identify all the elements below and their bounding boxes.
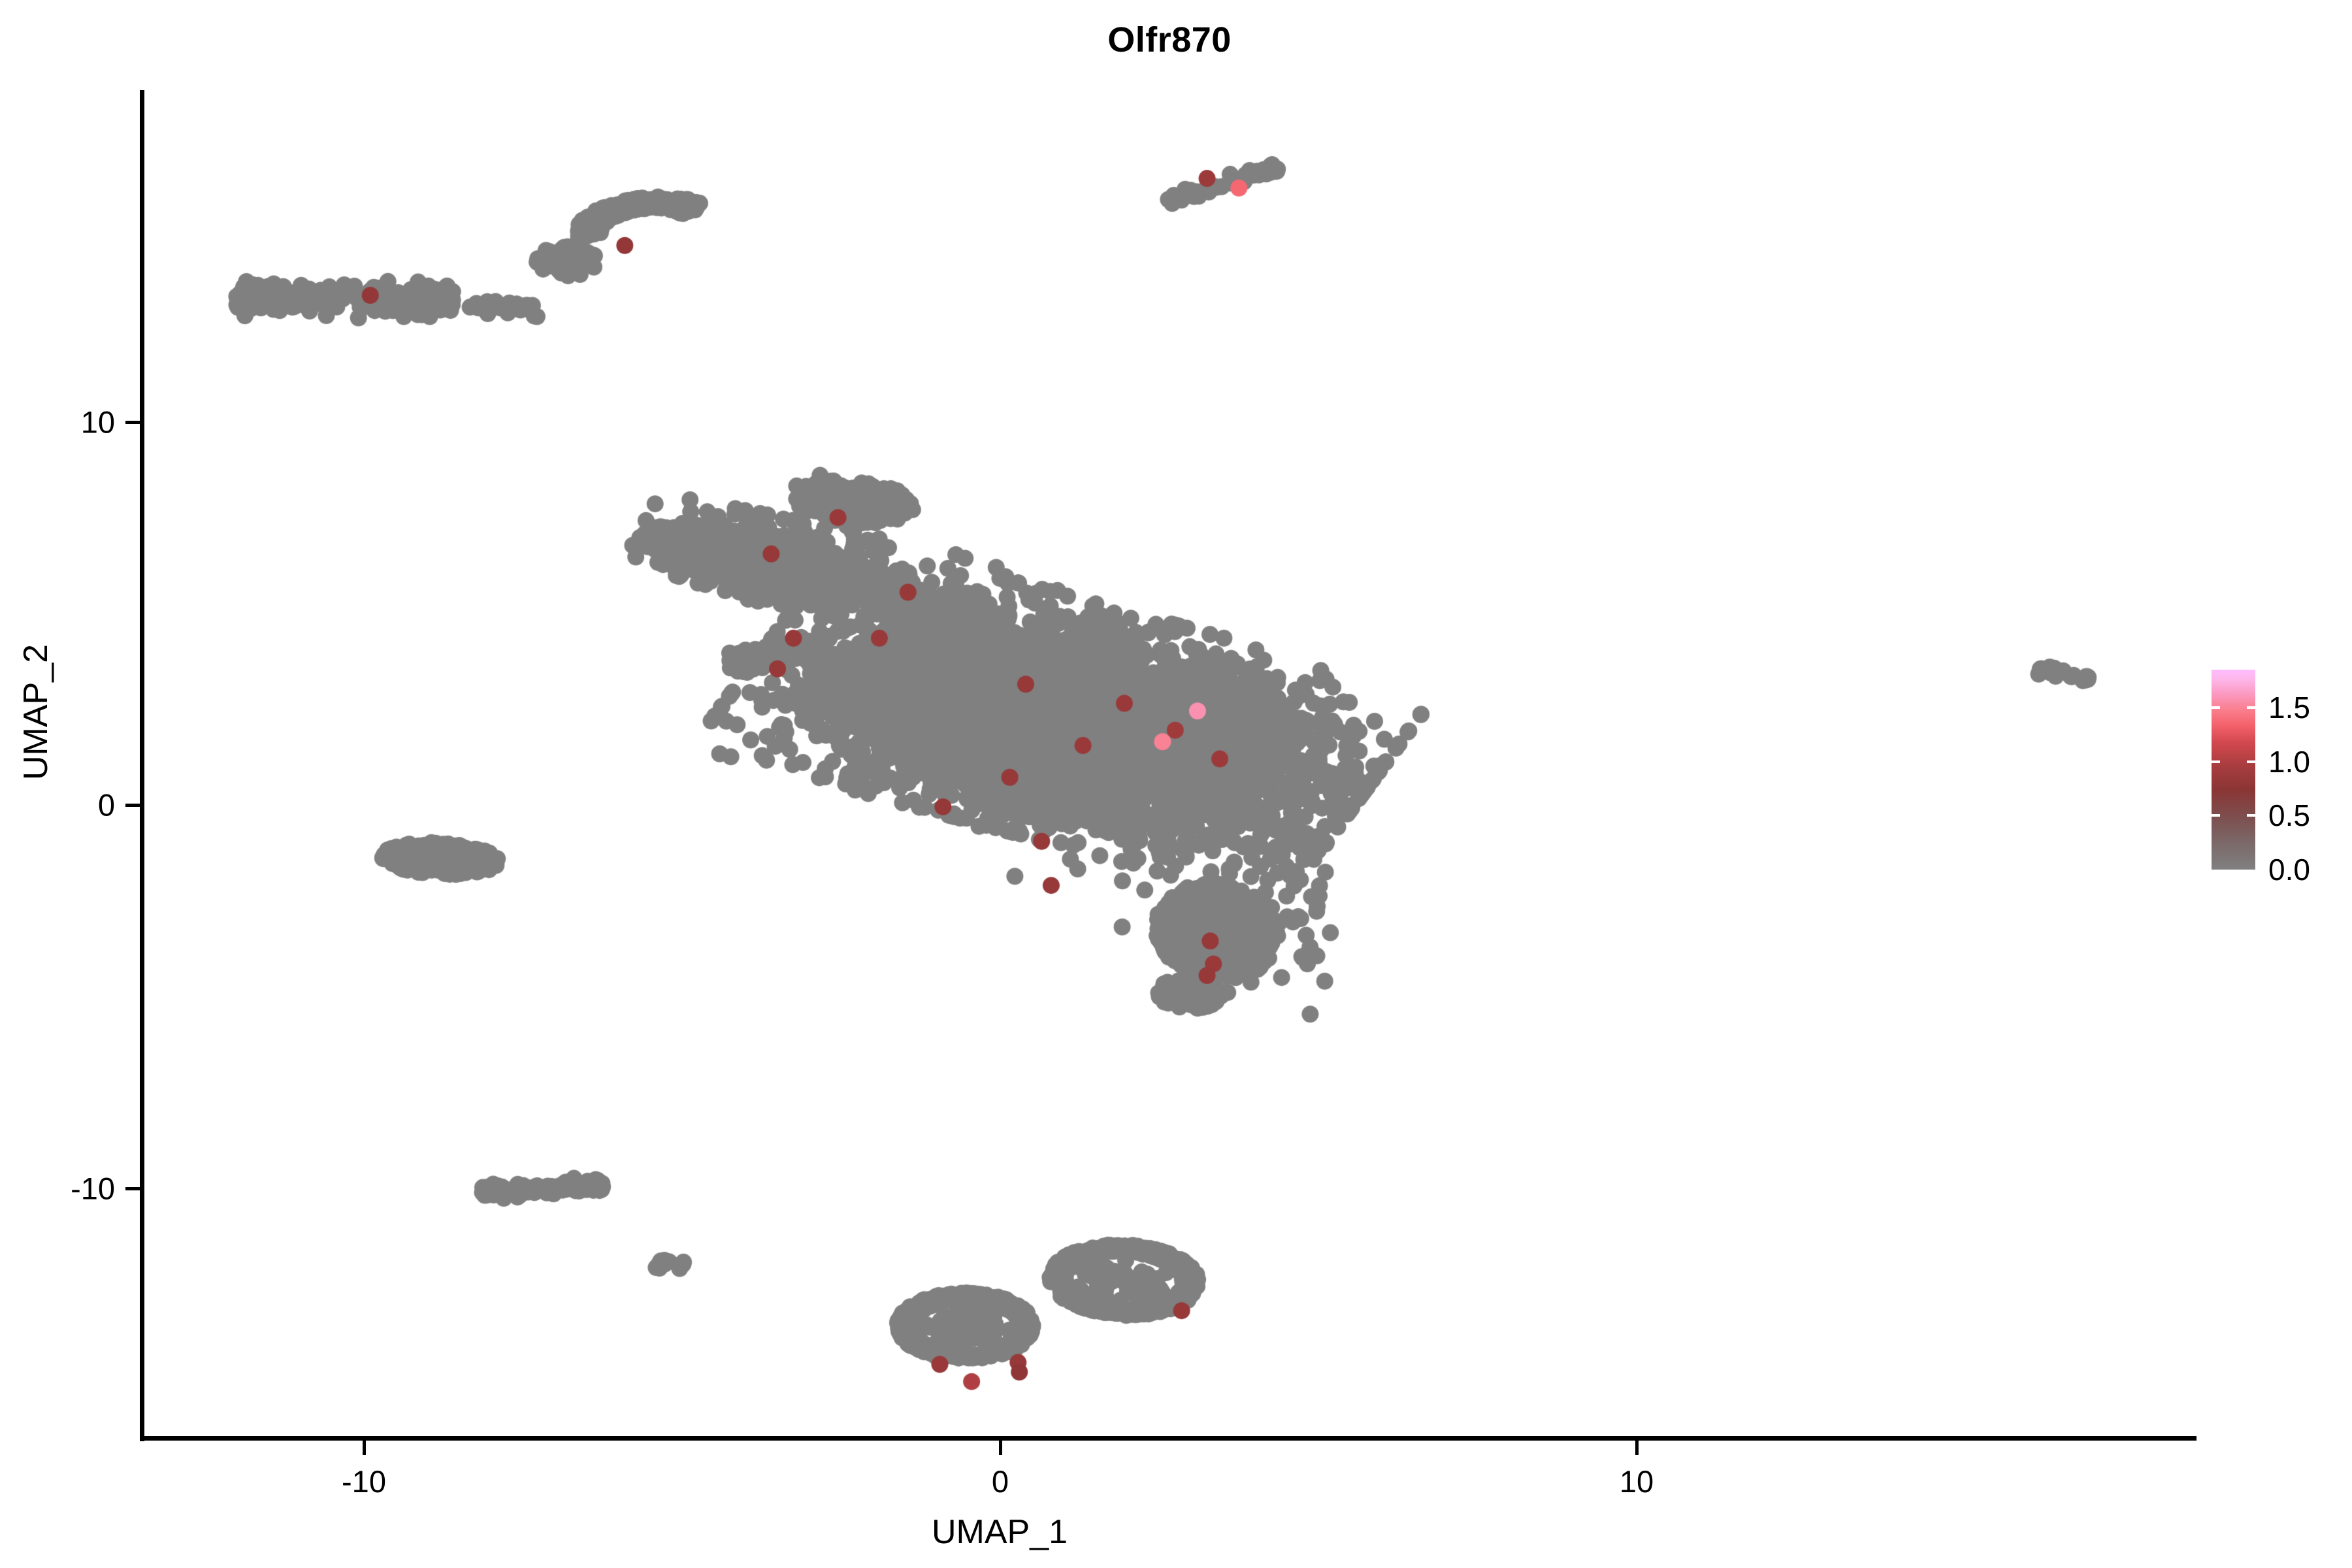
y-axis-line (140, 90, 144, 1441)
legend-tick-mark (2212, 760, 2220, 763)
x-tick-mark (363, 1441, 366, 1455)
y-tick-mark (125, 421, 140, 424)
y-tick-label: 10 (81, 404, 115, 440)
color-legend: 1.51.00.50.0 (2208, 663, 2339, 885)
x-axis-line (140, 1436, 2197, 1441)
page-title: Olfr870 (0, 20, 2345, 60)
legend-tick-label: 1.0 (2268, 744, 2310, 779)
y-tick-label: 0 (98, 787, 115, 823)
x-tick-label: -10 (342, 1463, 386, 1499)
legend-tick-label: 0.0 (2268, 852, 2310, 887)
legend-colorbar (2212, 670, 2255, 870)
legend-tick-mark (2247, 814, 2255, 817)
y-axis-title: UMAP_2 (16, 581, 56, 843)
y-tick-mark (125, 804, 140, 807)
y-tick-label: -10 (71, 1170, 115, 1206)
x-tick-label: 10 (1620, 1463, 1654, 1499)
legend-tick-label: 0.5 (2268, 798, 2310, 833)
legend-tick-mark (2212, 814, 2220, 817)
scatter-plot-canvas (144, 91, 2195, 1439)
x-tick-label: 0 (992, 1463, 1009, 1499)
legend-tick-mark (2247, 706, 2255, 709)
plot-panel (144, 91, 2195, 1439)
legend-tick-label: 1.5 (2268, 690, 2310, 725)
x-tick-mark (999, 1441, 1002, 1455)
y-tick-mark (125, 1187, 140, 1190)
umap-feature-plot: Olfr870 -10010 100-10 UMAP_1 UMAP_2 1.51… (0, 0, 2352, 1568)
legend-tick-mark (2212, 706, 2220, 709)
legend-tick-mark (2247, 760, 2255, 763)
x-tick-mark (1635, 1441, 1639, 1455)
x-axis-title: UMAP_1 (0, 1512, 2025, 1552)
